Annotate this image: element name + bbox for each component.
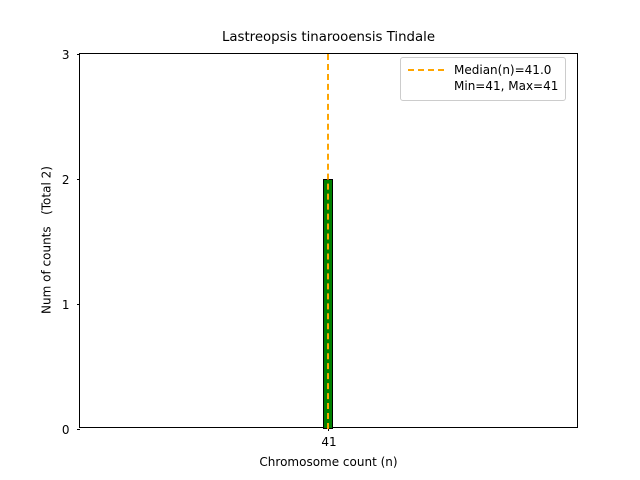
legend-handle-cell — [408, 63, 450, 71]
matplotlib-figure: Lastreopsis tinarooensis Tindale 0 1 2 3… — [0, 0, 640, 480]
x-axis-label: Chromosome count (n) — [79, 455, 578, 469]
y-axis-label: Num of counts (Total 2) — [40, 53, 54, 428]
legend[interactable]: Median(n)=41.0 Min=41, Max=41 — [400, 57, 566, 101]
chart-title: Lastreopsis tinarooensis Tindale — [79, 30, 578, 46]
legend-dashed-line-icon — [408, 69, 444, 71]
y-tick-label-3: 3 — [62, 49, 70, 61]
legend-text: Median(n)=41.0 Min=41, Max=41 — [450, 63, 558, 94]
legend-label-median: Median(n)=41.0 — [454, 63, 558, 79]
x-tick-label-41: 41 — [321, 436, 336, 448]
y-tick-label-2: 2 — [62, 174, 70, 186]
y-tick-label-0: 0 — [62, 424, 70, 436]
plot-area: 0 1 2 3 41 — [79, 53, 578, 428]
legend-label-minmax: Min=41, Max=41 — [454, 79, 558, 95]
median-line — [327, 54, 329, 429]
y-tick-0: 0 — [77, 429, 81, 430]
y-tick-label-1: 1 — [62, 299, 70, 311]
